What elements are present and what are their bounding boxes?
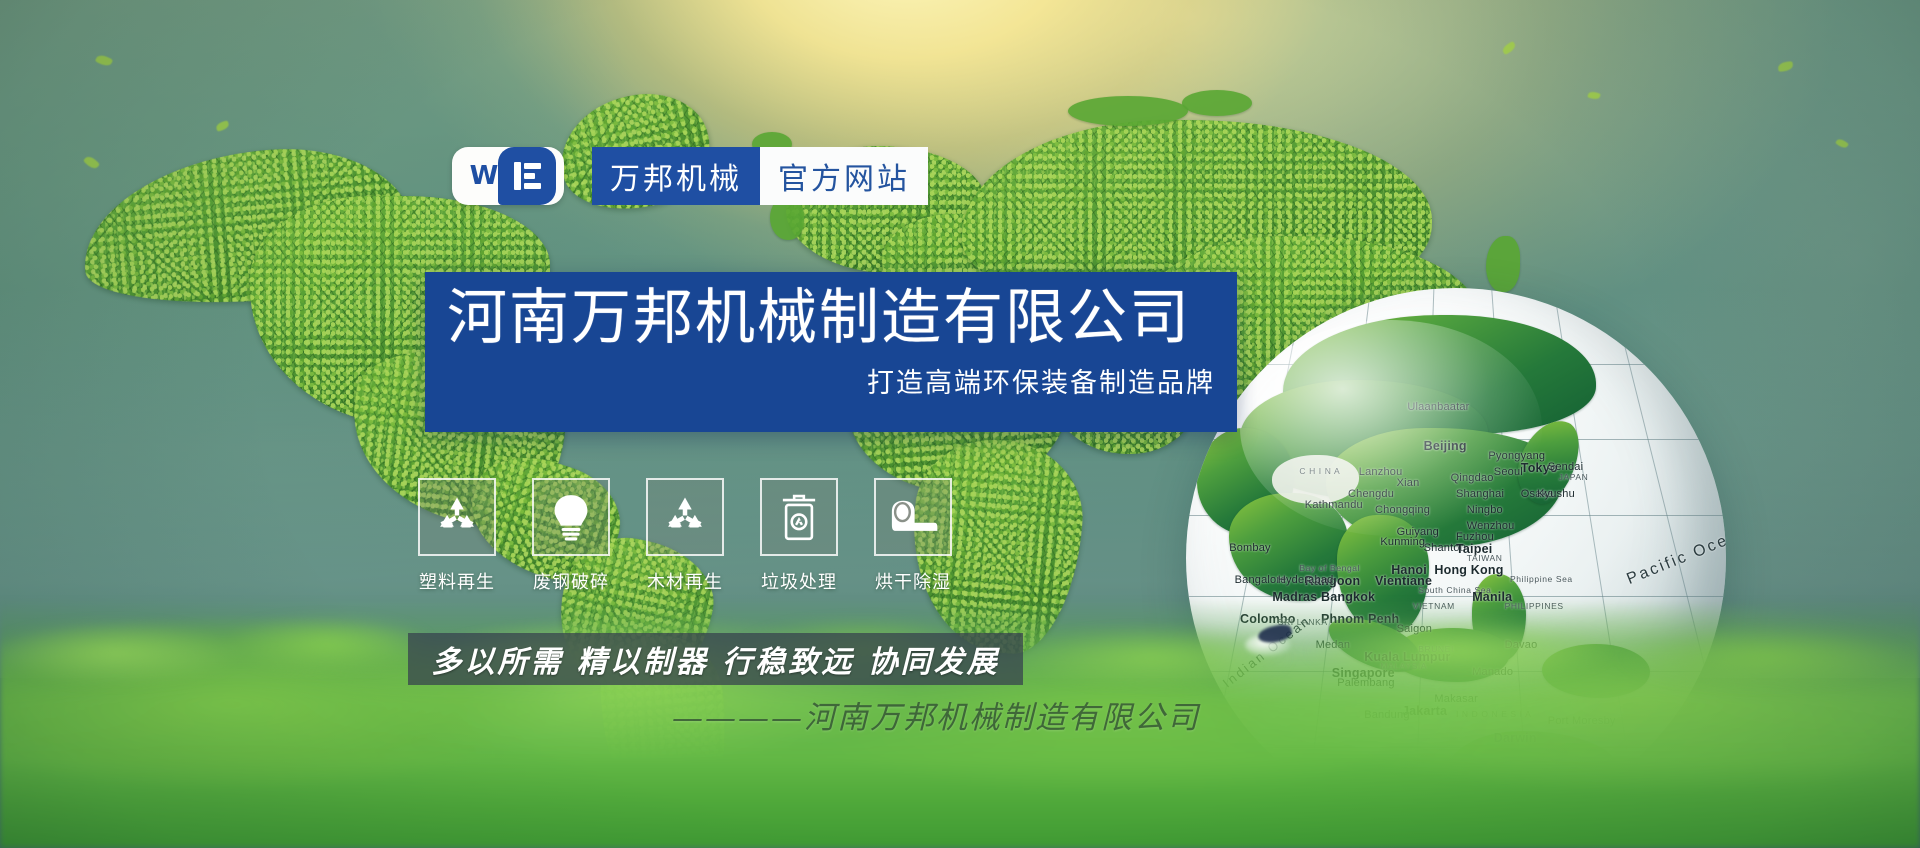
leaf-fleck xyxy=(1777,61,1793,72)
slogan-bar: 多以所需 精以制器 行稳致远 协同发展 xyxy=(408,633,1023,685)
service-icon-box xyxy=(874,478,952,556)
logo-w-mark: W xyxy=(470,161,497,191)
service-icon-row: 塑料再生 废钢破碎 xyxy=(418,478,952,594)
tab-official-site[interactable]: 官方网站 xyxy=(760,147,928,205)
slogan-signature: ————河南万邦机械制造有限公司 xyxy=(672,692,1272,737)
hero-banner: C H I N A Beijing Ulaanbaatar Lanzhou Xi… xyxy=(0,0,1920,848)
island-scandinavia xyxy=(1182,90,1252,116)
service-label: 垃圾处理 xyxy=(761,568,837,594)
island-arctic-north xyxy=(1068,96,1188,126)
recycle-icon xyxy=(661,493,709,541)
island-japan xyxy=(1486,236,1520,292)
leaf-fleck xyxy=(1835,137,1849,150)
dryer-blower-icon xyxy=(887,498,939,536)
service-label: 塑料再生 xyxy=(419,568,495,594)
service-icon-box xyxy=(760,478,838,556)
service-icon-box xyxy=(418,478,496,556)
leaf-fleck xyxy=(215,120,230,132)
trash-bin-icon xyxy=(779,492,819,542)
company-tagline: 打造高端环保装备制造品牌 xyxy=(447,361,1215,400)
service-label: 木材再生 xyxy=(647,568,723,594)
lightbulb-icon xyxy=(548,492,594,542)
service-icon-box xyxy=(532,478,610,556)
company-banner: 河南万邦机械制造有限公司 打造高端环保装备制造品牌 xyxy=(425,272,1237,432)
slogan-text: 多以所需 精以制器 行稳致远 协同发展 xyxy=(431,637,999,681)
service-icon-box xyxy=(646,478,724,556)
service-item-drying-dehumidifying[interactable]: 烘干除湿 xyxy=(874,478,952,594)
service-item-wood-recycling[interactable]: 木材再生 xyxy=(646,478,724,594)
service-label: 烘干除湿 xyxy=(875,568,951,594)
service-label: 废钢破碎 xyxy=(533,568,609,594)
leaf-fleck xyxy=(83,154,100,171)
tab-brand[interactable]: 万邦机械 xyxy=(592,147,760,205)
wanbang-logo[interactable]: W xyxy=(452,147,564,205)
logo-speech-bubble-icon xyxy=(498,147,556,205)
leaf-fleck xyxy=(1501,41,1517,55)
service-item-waste-treatment[interactable]: 垃圾处理 xyxy=(760,478,838,594)
service-item-scrap-steel-crushing[interactable]: 废钢破碎 xyxy=(532,478,610,594)
logo-b-mark xyxy=(514,162,541,190)
recycle-icon xyxy=(433,493,481,541)
site-header: W 万邦机械 官方网站 xyxy=(452,147,928,205)
service-item-plastic-recycling[interactable]: 塑料再生 xyxy=(418,478,496,594)
leaf-fleck xyxy=(1587,90,1600,100)
leaf-fleck xyxy=(95,53,113,68)
company-name: 河南万邦机械制造有限公司 xyxy=(447,286,1215,349)
